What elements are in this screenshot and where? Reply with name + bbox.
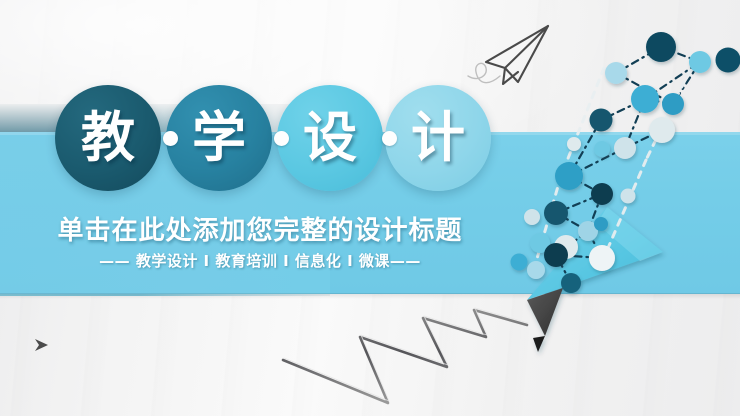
slide-subtitle-keywords[interactable]: —— 教学设计 I 教育培训 I 信息化 I 微课—— bbox=[0, 250, 520, 271]
presentation-slide: 教 学 设 计 单击在此处添加您完整的设计标题 —— 教学设计 I 教育培训 I… bbox=[0, 0, 740, 416]
circle-xue[interactable]: 学 bbox=[166, 85, 272, 191]
circle-char-ji: 计 bbox=[411, 111, 465, 165]
dot-separator-2 bbox=[274, 131, 289, 146]
circle-char-jiao: 教 bbox=[81, 111, 135, 165]
circle-char-she: 设 bbox=[303, 111, 357, 165]
brand-circle-group: 教 学 设 计 bbox=[0, 0, 740, 416]
circle-ji[interactable]: 计 bbox=[385, 85, 491, 191]
dot-separator-3 bbox=[382, 131, 397, 146]
dot-separator-1 bbox=[163, 131, 178, 146]
circle-she[interactable]: 设 bbox=[277, 85, 383, 191]
play-arrow-icon[interactable] bbox=[34, 338, 50, 352]
slide-title-placeholder[interactable]: 单击在此处添加您完整的设计标题 bbox=[0, 210, 520, 247]
circle-jiao[interactable]: 教 bbox=[55, 85, 161, 191]
circle-char-xue: 学 bbox=[192, 111, 246, 165]
